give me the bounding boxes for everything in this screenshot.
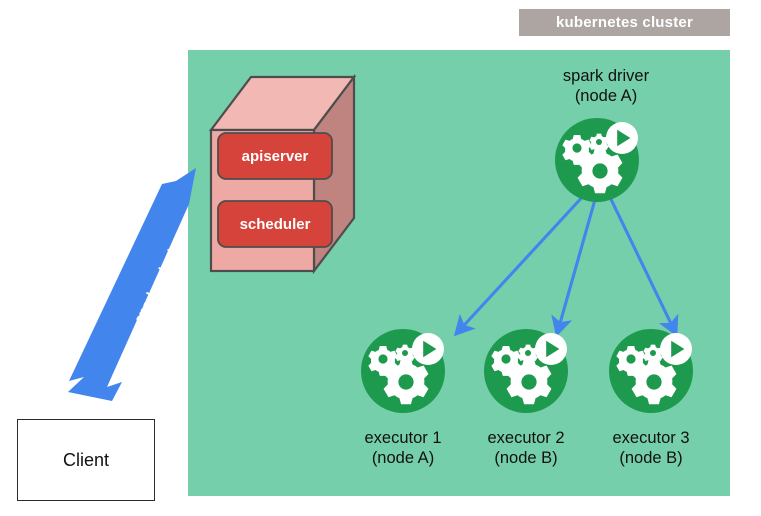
executor-3-caption: executor 3 (node B) bbox=[588, 428, 714, 468]
executor-1-caption: executor 1 (node A) bbox=[340, 428, 466, 468]
executor-2-node bbox=[484, 329, 568, 413]
executor-3-node bbox=[609, 329, 693, 413]
client-box: Client bbox=[17, 419, 155, 501]
spark-driver-node bbox=[555, 118, 639, 202]
scheduler-chip bbox=[218, 201, 332, 247]
kubernetes-cluster-badge: kubernetes cluster bbox=[519, 9, 730, 36]
client-label: Client bbox=[63, 450, 109, 471]
executor-2-caption: executor 2 (node B) bbox=[463, 428, 589, 468]
executor-1-node bbox=[361, 329, 445, 413]
spark-driver-caption: spark driver (node A) bbox=[521, 66, 691, 106]
apiserver-chip bbox=[218, 133, 332, 179]
spark-submit-arrow bbox=[68, 168, 196, 401]
control-plane-cube bbox=[211, 77, 354, 271]
diagram-canvas: kubernetes cluster apiserver scheduler s… bbox=[0, 0, 761, 516]
